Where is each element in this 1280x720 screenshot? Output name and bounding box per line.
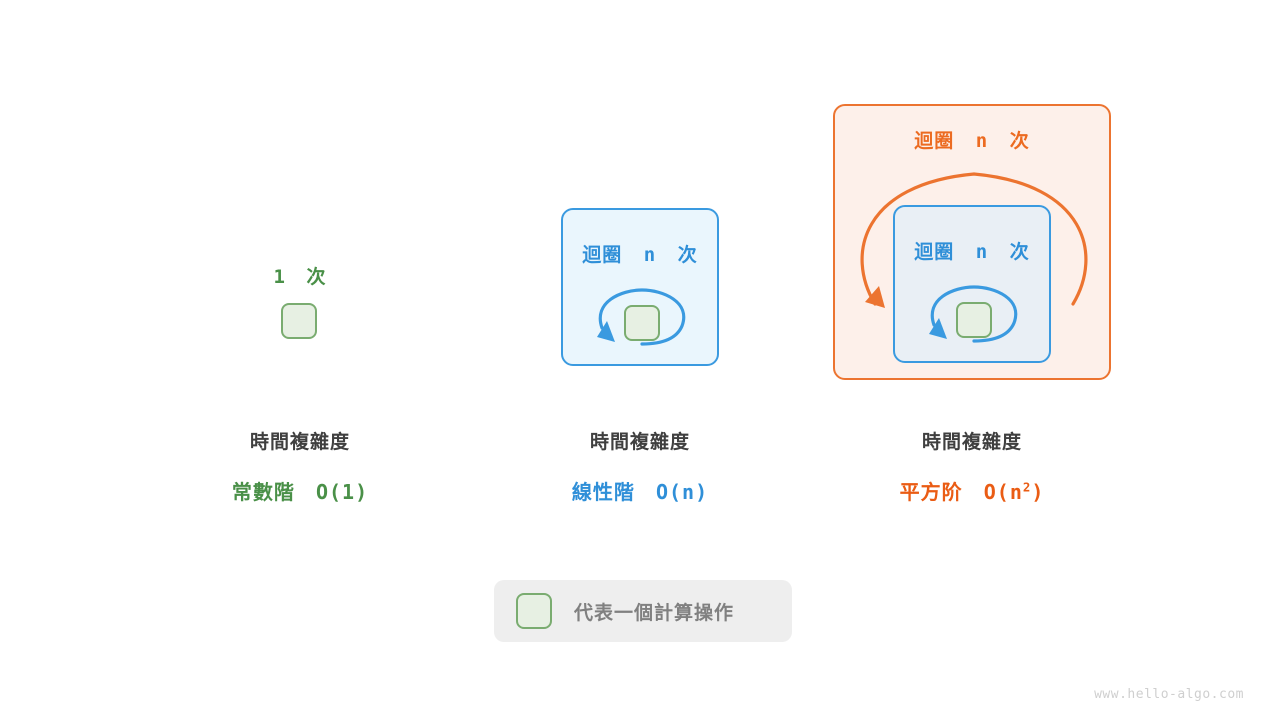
outer-loop-label-variable: n [976, 130, 988, 152]
complexity-bigo: O(1) [316, 480, 368, 504]
loop-label: 迴圈 n 次 [563, 240, 717, 267]
bigo-close: ) [1031, 480, 1044, 504]
caption-linear: 時間複雜度 線性階 O(n) [520, 427, 760, 505]
diagram-canvas: 1 次 時間複雜度 常數階 O(1) 迴圈 n 次 [0, 0, 1280, 720]
outer-loop-label-suffix: 次 [1010, 131, 1030, 152]
loop-label-variable: n [644, 244, 656, 266]
operation-count-unit: 次 [307, 267, 327, 288]
complexity-bigo: O(n) [656, 480, 708, 504]
operation-square-icon [281, 303, 317, 339]
complexity-name: 常數階 [232, 482, 295, 504]
caption-value: 平方阶 O(n2) [832, 476, 1112, 505]
panel-quadratic-complexity: 迴圈 n 次 迴圈 n 次 [832, 0, 1112, 560]
loop-label-prefix: 迴圈 [582, 245, 622, 266]
caption-title: 時間複雜度 [832, 427, 1112, 454]
operation-count-number: 1 [273, 266, 285, 288]
loop-box-outer-quadratic: 迴圈 n 次 迴圈 n 次 [833, 104, 1111, 380]
caption-quadratic: 時間複雜度 平方阶 O(n2) [832, 427, 1112, 505]
inner-loop-label-variable: n [976, 241, 988, 263]
inner-loop-label: 迴圈 n 次 [895, 237, 1049, 264]
caption-value: 線性階 O(n) [520, 476, 760, 505]
operation-square-icon [956, 302, 992, 338]
legend: 代表一個計算操作 [494, 580, 792, 642]
loop-box-outer-linear: 迴圈 n 次 [561, 208, 719, 366]
caption-value: 常數階 O(1) [180, 476, 420, 505]
caption-constant: 時間複雜度 常數階 O(1) [180, 427, 420, 505]
inner-loop-label-suffix: 次 [1010, 242, 1030, 263]
watermark: www.hello-algo.com [1094, 687, 1244, 702]
legend-label: 代表一個計算操作 [574, 598, 734, 625]
operation-count-label: 1 次 [180, 262, 420, 289]
panel-linear-complexity: 迴圈 n 次 時間複雜度 線性階 O(n) [520, 0, 760, 560]
outer-loop-label-prefix: 迴圈 [914, 131, 954, 152]
complexity-bigo: O(n2) [984, 480, 1045, 504]
inner-loop-label-prefix: 迴圈 [914, 242, 954, 263]
complexity-name: 平方阶 [900, 482, 963, 504]
outer-loop-label: 迴圈 n 次 [835, 126, 1109, 153]
panel-constant-complexity: 1 次 時間複雜度 常數階 O(1) [180, 0, 420, 560]
loop-label-suffix: 次 [678, 245, 698, 266]
operation-square-icon [516, 593, 552, 629]
operation-square-icon [624, 305, 660, 341]
bigo-base: O(n [984, 480, 1023, 504]
caption-title: 時間複雜度 [180, 427, 420, 454]
caption-title: 時間複雜度 [520, 427, 760, 454]
loop-box-inner-quadratic: 迴圈 n 次 [893, 205, 1051, 363]
complexity-name: 線性階 [572, 482, 635, 504]
